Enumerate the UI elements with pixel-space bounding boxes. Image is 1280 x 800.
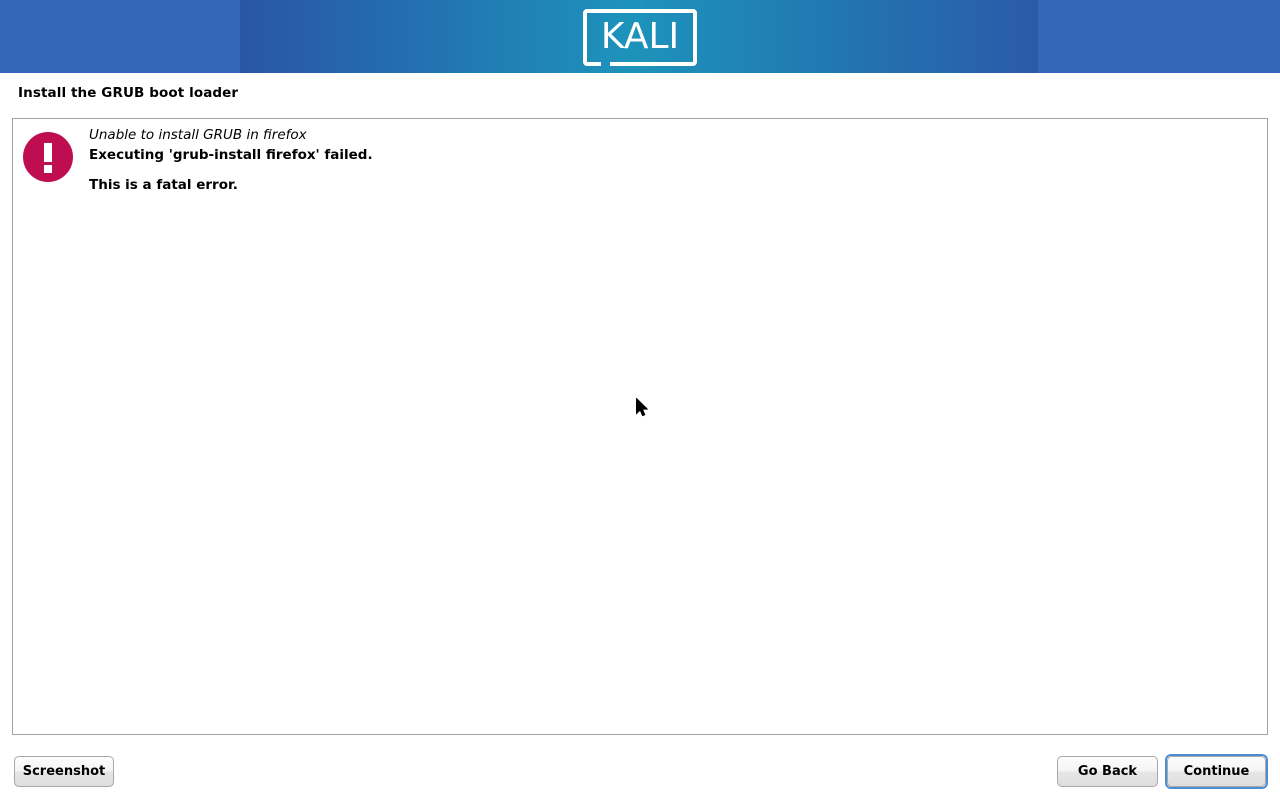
exclamation-stem [44, 143, 52, 162]
error-message: Executing 'grub-install firefox' failed. [89, 146, 1189, 165]
error-text-group: Unable to install GRUB in firefox Execut… [89, 126, 1189, 195]
exclamation-dot [44, 165, 52, 173]
screenshot-button[interactable]: Screenshot [14, 756, 114, 787]
logo-text: KALI [583, 9, 697, 66]
installer-screen: KALI Install the GRUB boot loader Unable… [0, 0, 1280, 800]
content-panel: Unable to install GRUB in firefox Execut… [12, 118, 1268, 735]
kali-banner: KALI [0, 0, 1280, 73]
page-title: Install the GRUB boot loader [18, 85, 238, 101]
continue-button-focus-ring[interactable]: Continue [1165, 754, 1268, 789]
kali-logo: KALI [583, 9, 697, 66]
error-detail: This is a fatal error. [89, 176, 1189, 195]
error-heading: Unable to install GRUB in firefox [89, 126, 1189, 145]
go-back-button[interactable]: Go Back [1057, 756, 1158, 787]
continue-button[interactable]: Continue [1167, 756, 1266, 787]
error-exclamation-icon [23, 132, 73, 182]
